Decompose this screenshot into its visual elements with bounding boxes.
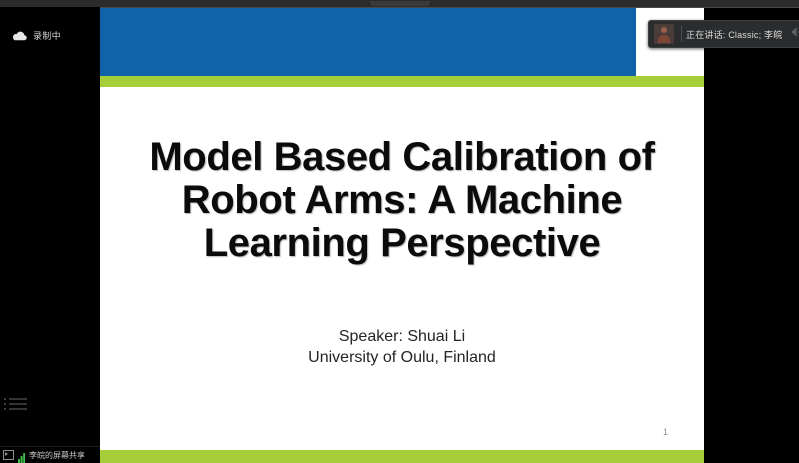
screen-share-label: 李皖的屏幕共享 — [29, 450, 85, 461]
slide-speaker-line: Speaker: Shuai Li — [118, 326, 686, 347]
zoom-meeting-window: 录制中 李皖的屏幕共享 Model Based Calibration of R… — [0, 0, 799, 463]
slide-subtitle: Speaker: Shuai Li University of Oulu, Fi… — [118, 326, 686, 368]
screen-share-status-bar[interactable]: 李皖的屏幕共享 — [0, 446, 103, 463]
slide-green-band-bottom — [100, 450, 704, 463]
screen-share-icon — [3, 450, 14, 460]
speaker-avatar[interactable] — [654, 24, 674, 44]
window-drag-handle[interactable] — [370, 1, 430, 6]
participant-list-icon[interactable] — [4, 398, 27, 410]
pill-divider — [681, 26, 682, 42]
recording-label: 录制中 — [33, 29, 61, 42]
active-speaker-bar[interactable]: 正在讲话: Classic; 李皖 — [648, 20, 799, 48]
slide-blue-band — [100, 8, 636, 76]
recording-indicator[interactable]: 录制中 — [12, 29, 61, 42]
left-sidebar: 录制中 李皖的屏幕共享 — [0, 7, 100, 463]
shared-slide-content: Model Based Calibration of Robot Arms: A… — [100, 8, 704, 463]
chevron-collapse-icon[interactable] — [790, 25, 799, 43]
window-title-bar — [0, 0, 799, 8]
slide-affiliation-line: University of Oulu, Finland — [118, 347, 686, 368]
active-speaker-label: 正在讲话: Classic; 李皖 — [686, 28, 782, 41]
slide-title: Model Based Calibration of Robot Arms: A… — [118, 136, 686, 266]
recording-cloud-icon — [12, 31, 27, 41]
slide-green-band-top — [100, 76, 704, 87]
slide-page-number: 1 — [663, 427, 668, 437]
network-signal-icon — [18, 450, 25, 460]
right-gutter — [704, 8, 799, 463]
